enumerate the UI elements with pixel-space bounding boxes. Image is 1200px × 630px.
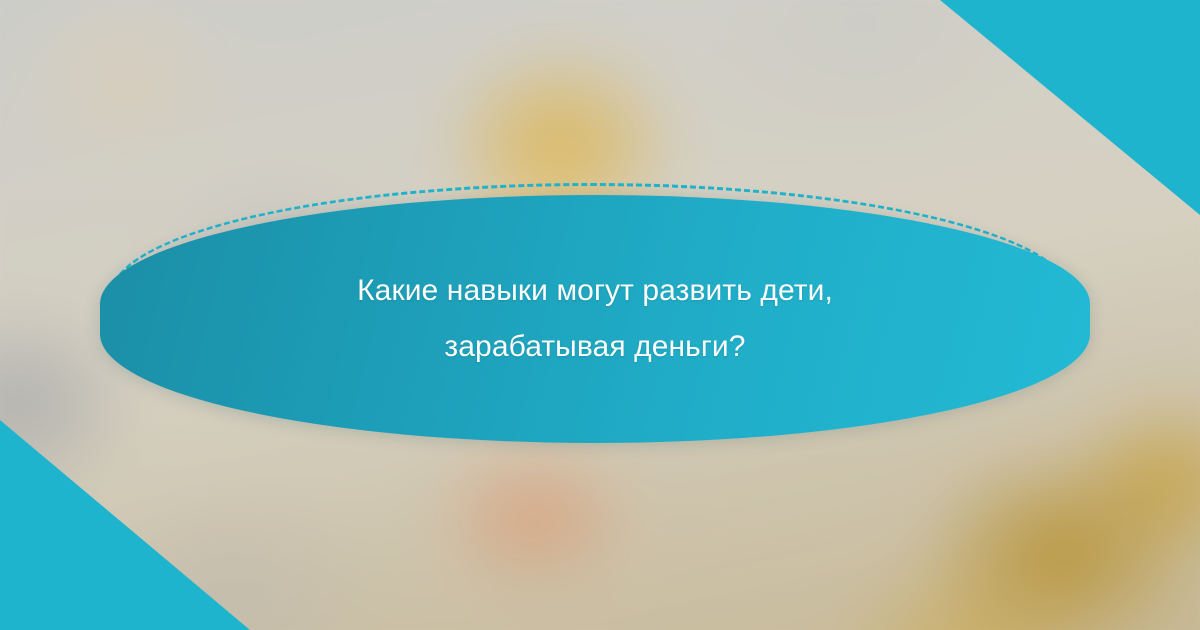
headline-line-2: зарабатывая деньги?	[444, 319, 745, 375]
headline-line-1: Какие навыки могут развить дети,	[357, 263, 833, 319]
social-card-canvas: Какие навыки могут развить дети, зарабат…	[0, 0, 1200, 630]
headline-badge: Какие навыки могут развить дети, зарабат…	[100, 195, 1090, 443]
